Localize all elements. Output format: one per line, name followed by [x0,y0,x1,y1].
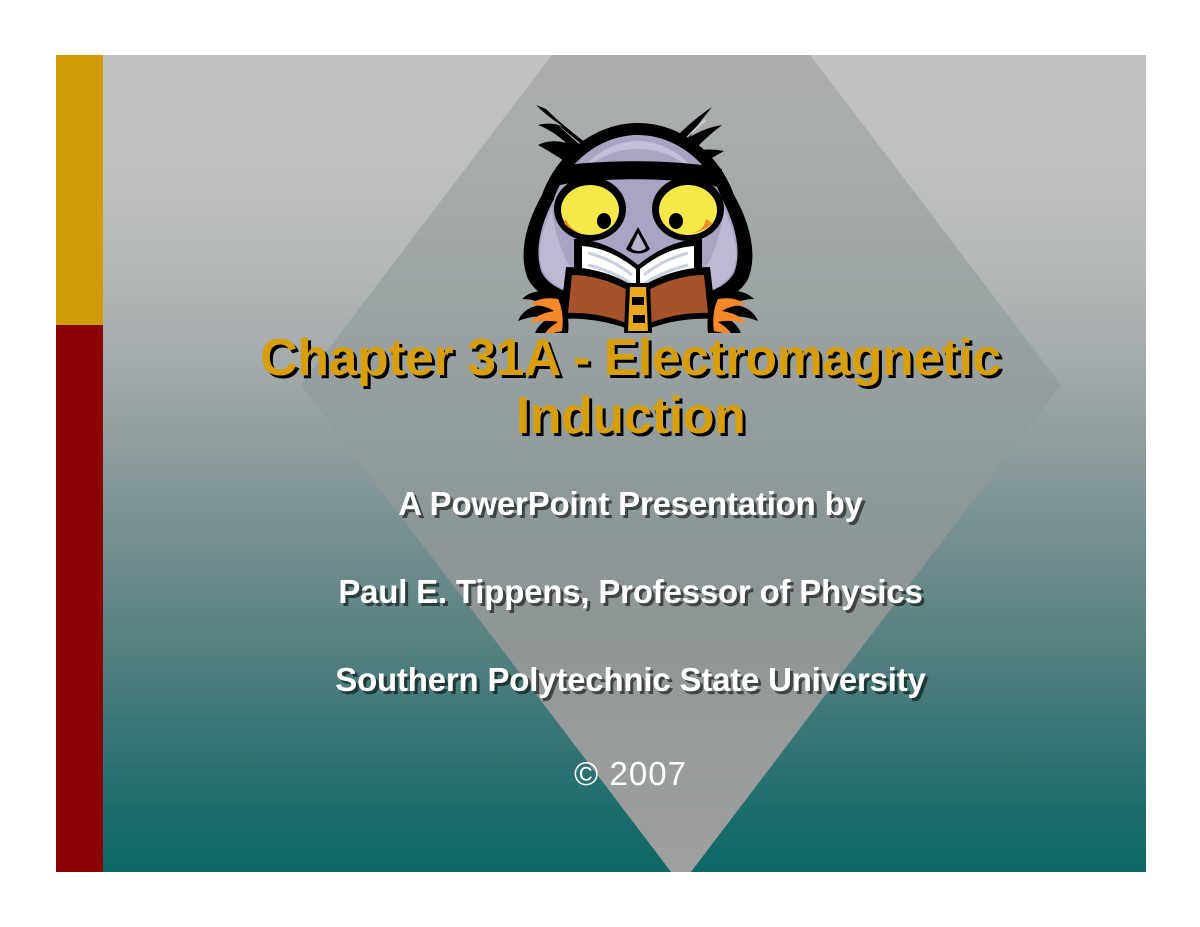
subtitle-line-author: Paul E. Tippens, Professor of Physics [163,573,1098,611]
slide-canvas: Chapter 31A - Electromagnetic Induction … [0,0,1200,927]
slide-text-block: Chapter 31A - Electromagnetic Induction … [103,55,1146,872]
subtitle-line-presentation-by: A PowerPoint Presentation by [163,485,1098,523]
slide-title: Chapter 31A - Electromagnetic Induction [163,329,1098,445]
left-accent-bar-maroon [56,325,103,872]
copyright-notice: © 2007 [163,755,1098,793]
left-accent-bar-gold [56,55,103,325]
subtitle-line-institution: Southern Polytechnic State University [163,661,1098,699]
presentation-slide: Chapter 31A - Electromagnetic Induction … [56,55,1146,872]
